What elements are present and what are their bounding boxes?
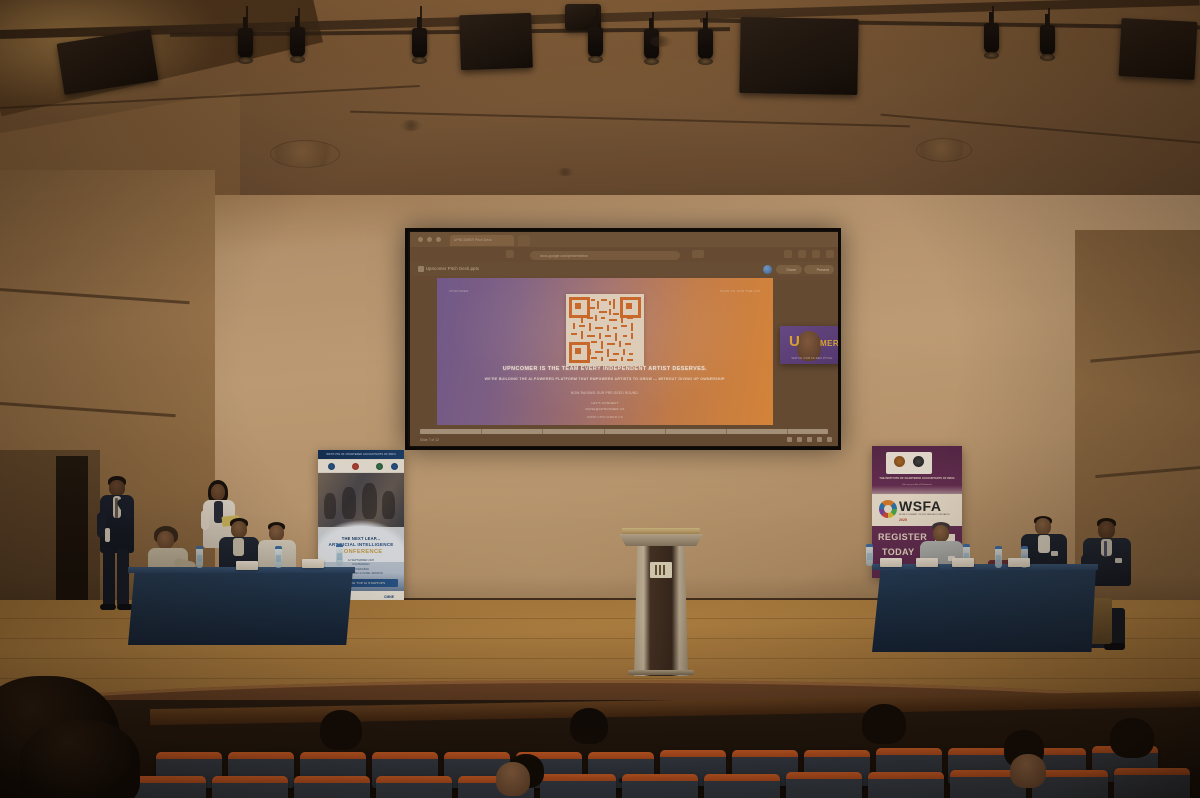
- badge: [1115, 558, 1122, 563]
- head: [1098, 521, 1115, 539]
- stage-light-lens: [238, 57, 253, 64]
- water-bottle: [866, 546, 873, 566]
- banner-left-top-strip: INSTITUTE OF CHARTERED ACCOUNTANTS OF IN…: [318, 450, 404, 459]
- banner-left-top-text: INSTITUTE OF CHARTERED ACCOUNTANTS OF IN…: [318, 450, 404, 459]
- bottle-cap: [196, 546, 203, 549]
- banner-left-headline-1: THE NEXT LEAP...: [322, 536, 400, 541]
- ca-logo-icon: [913, 456, 924, 467]
- window-dot-icon: [427, 237, 432, 242]
- banner-right-institute-sub: (Set up by an Act of Parliament): [876, 484, 958, 487]
- head: [211, 484, 225, 500]
- partner-right-label: CMNE: [384, 595, 394, 599]
- nameplate: [302, 559, 324, 568]
- ceiling-dome: [916, 138, 972, 162]
- stage-light: [290, 27, 305, 57]
- ceiling-speaker: [1119, 18, 1198, 80]
- seat: [622, 774, 698, 798]
- icai-logo-icon: [328, 463, 335, 470]
- bottle-cap: [1021, 546, 1028, 549]
- icai-emblem-icon: [894, 456, 905, 467]
- shoe: [117, 604, 133, 610]
- video-badge-caption: WATCH OUR 60-SEC PITCH: [780, 356, 838, 360]
- head: [109, 480, 125, 496]
- stage-light-lens: [698, 58, 713, 65]
- brand-initial: U: [789, 334, 800, 349]
- qr-code: [566, 294, 644, 366]
- captions-icon[interactable]: [807, 437, 812, 442]
- seat: [540, 774, 616, 798]
- panel-table-right: [872, 566, 1096, 652]
- stage-light-lens: [1040, 54, 1055, 61]
- banner-right-logo-card: [886, 452, 932, 474]
- banner-right-institute: THE INSTITUTE OF CHARTERED ACCOUNTANTS O…: [876, 477, 958, 481]
- stage-light-lens: [984, 52, 999, 59]
- pitch-slide: UPNCOMER SCAN TO JOIN THE LIST: [437, 278, 773, 425]
- podium-base: [628, 670, 694, 675]
- seat: [704, 774, 780, 798]
- seat: [868, 772, 944, 798]
- stage-light: [238, 28, 253, 58]
- browser-extension-icon[interactable]: [692, 250, 704, 258]
- ceiling-seam: [350, 111, 910, 128]
- partner-logo-icon: [376, 463, 383, 470]
- window-dot-icon: [436, 237, 441, 242]
- leg: [103, 549, 115, 607]
- audience-head-bald: [496, 762, 530, 796]
- ceiling-vent: [400, 120, 422, 131]
- stage-light: [698, 29, 713, 59]
- notes-icon[interactable]: [797, 437, 802, 442]
- auditorium-photo: UPNCOMER Pitch Deck docs.google.com/pres…: [0, 0, 1200, 798]
- slide-corner-right: SCAN TO JOIN THE LIST: [720, 289, 761, 293]
- leg: [117, 549, 129, 607]
- shirt-collar: [233, 538, 244, 556]
- qr-finder-icon: [620, 297, 641, 318]
- ceiling-dome: [270, 140, 340, 168]
- banner-right-event-sub: WORLD SUMMIT OF FUTURE ACCOUNTANTS: [899, 514, 959, 517]
- new-tab-button[interactable]: [518, 235, 530, 246]
- head: [157, 531, 174, 549]
- seat: [130, 776, 206, 798]
- wall-groove: [1095, 466, 1200, 478]
- head: [933, 525, 949, 542]
- partner-logo-icon: [391, 463, 398, 470]
- nameplate: [880, 558, 902, 567]
- podium-shelf: [619, 534, 703, 546]
- badge: [1051, 551, 1058, 556]
- slide-email: RAISE@UPNCOMER.US: [437, 407, 773, 411]
- video-thumbnail-badge[interactable]: U MER WATCH OUR 60-SEC PITCH: [780, 326, 838, 364]
- stage-light-lens: [644, 58, 659, 65]
- slide-counter: Slide 7 of 12: [420, 436, 439, 445]
- grid-icon[interactable]: [787, 437, 792, 442]
- bottle-cap: [995, 546, 1002, 549]
- bottle-cap: [336, 544, 343, 547]
- banner-right-cta-2: TODAY: [882, 547, 915, 557]
- banner-left-wave: [318, 520, 404, 562]
- brand-rest: MER: [820, 339, 838, 348]
- stage-light-lens: [412, 57, 427, 64]
- ceiling-vent: [556, 168, 574, 176]
- icai-emblem-icon: [650, 562, 672, 578]
- document-title: Upncomer Pitch Deck.pptx: [426, 265, 479, 273]
- nameplate: [236, 561, 258, 570]
- seat: [1114, 768, 1190, 798]
- shoe: [1104, 643, 1125, 650]
- banner-left-headline-2: ARTIFICIAL INTELLIGENCE: [322, 542, 400, 547]
- seat: [212, 776, 288, 798]
- panel-table-right-top: [872, 564, 1098, 570]
- water-bottle: [275, 548, 282, 568]
- seat: [376, 776, 452, 798]
- podium: [628, 528, 694, 676]
- ceiling-vent: [650, 36, 672, 47]
- podium-top: [622, 528, 700, 535]
- water-bottle: [995, 548, 1002, 568]
- seat: [786, 772, 862, 798]
- panel-table-left: [128, 569, 353, 645]
- head: [269, 525, 284, 541]
- qr-finder-icon: [569, 342, 590, 363]
- audience-head: [1110, 718, 1154, 758]
- audience-head: [320, 710, 362, 750]
- foreground-audience-head: [20, 720, 140, 798]
- ceiling-speaker: [739, 17, 858, 95]
- bottle-cap: [866, 544, 873, 547]
- stage-light: [588, 27, 603, 57]
- slide-corner-left: UPNCOMER: [449, 289, 469, 293]
- nameplate: [916, 558, 938, 567]
- settings-icon[interactable]: [817, 437, 822, 442]
- window-minimize-button[interactable]: [784, 250, 792, 258]
- water-bottle: [196, 548, 203, 568]
- wall-groove: [1090, 350, 1200, 363]
- microphone: [105, 528, 110, 542]
- seat: [294, 776, 370, 798]
- audience-head: [570, 708, 608, 744]
- slide-website: WWW.UPNCOMER.US: [437, 415, 773, 419]
- wsfa-gear-icon: [879, 500, 897, 518]
- stage-light-lens: [588, 56, 603, 63]
- slide-subhead: WE'RE BUILDING THE AI-POWERED PLATFORM T…: [471, 377, 739, 382]
- fullscreen-icon[interactable]: [827, 437, 832, 442]
- audience-seating: [0, 700, 1200, 798]
- qr-code-pattern: [569, 297, 641, 363]
- window-dot-icon: [418, 237, 423, 242]
- window-maximize-button[interactable]: [798, 250, 806, 258]
- banner-left-headline-3: CONFERENCE: [322, 549, 400, 555]
- tie: [1104, 541, 1107, 557]
- browser-url-text: docs.google.com/presentation: [540, 252, 588, 260]
- banner-right-event-name: WSFA: [899, 499, 941, 514]
- audience-head: [862, 704, 906, 744]
- banner-right-event-year: 2025: [899, 518, 907, 522]
- head: [1035, 518, 1051, 535]
- bottle-cap: [963, 544, 970, 547]
- browser-tab-bar[interactable]: UPNCOMER Pitch Deck: [410, 232, 838, 247]
- stage-light: [984, 23, 999, 53]
- presentation-footer-bar: [410, 435, 838, 446]
- slide-cta: LET'S CONNECT: [437, 401, 773, 405]
- wall-groove: [0, 402, 176, 417]
- slide-filmstrip[interactable]: [420, 429, 828, 434]
- stage-light: [1040, 25, 1055, 55]
- head: [231, 521, 247, 538]
- partner-logo-icon: [352, 463, 359, 470]
- banner-left-logo-row: [318, 460, 404, 472]
- window-close-button[interactable]: [812, 250, 820, 258]
- share-button-label: Share: [786, 266, 796, 274]
- inner-tee: [1038, 535, 1050, 553]
- banner-left-photo: [318, 473, 404, 527]
- ceiling-speaker: [459, 13, 533, 70]
- avatar[interactable]: [763, 265, 772, 274]
- browser-back-icon[interactable]: [506, 250, 514, 258]
- slide-headline: UPNCOMER IS THE TEAM EVERY INDEPENDENT A…: [437, 366, 773, 372]
- stage-light: [412, 28, 427, 58]
- present-button-label: Present: [817, 266, 829, 274]
- shoe: [100, 604, 116, 610]
- presentation-file-icon: [418, 266, 424, 272]
- wall-groove: [0, 288, 190, 304]
- nameplate: [1008, 558, 1030, 567]
- stage-light-lens: [290, 56, 305, 63]
- audience-head-bald: [1010, 754, 1046, 788]
- bottle-cap: [275, 546, 282, 549]
- browser-tab-label: UPNCOMER Pitch Deck: [454, 235, 492, 246]
- nameplate: [952, 558, 974, 567]
- projected-browser-window: UPNCOMER Pitch Deck docs.google.com/pres…: [410, 232, 838, 446]
- water-bottle: [336, 546, 343, 566]
- slide-raise-line: NOW RAISING OUR PRE-SEED ROUND.: [437, 391, 773, 395]
- browser-menu-icon[interactable]: [826, 250, 834, 258]
